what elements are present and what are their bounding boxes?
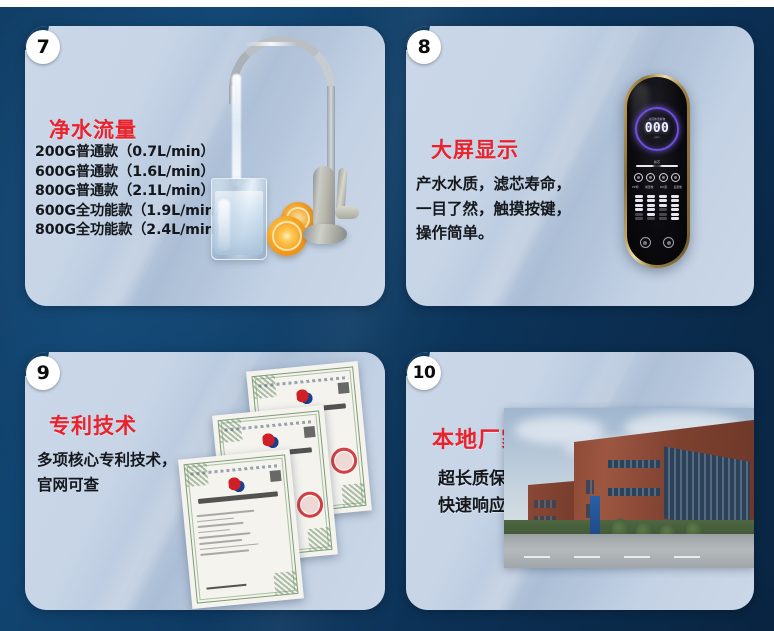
panel-badge-10: 10 [407,356,441,390]
cards-grid: 净水流量 200G普通款（0.7L/min） 600G普通款（1.6L/min）… [0,0,774,631]
promo-feature-grid: 净水流量 200G普通款（0.7L/min） 600G普通款（1.6L/min）… [0,0,774,631]
feature-card-7[interactable]: 净水流量 200G普通款（0.7L/min） 600G普通款（1.6L/min）… [25,26,385,306]
power-button[interactable] [640,237,651,248]
filter-label-row: PP棉 前置炭 RO膜 后置炭 [632,185,682,189]
feature-card-9[interactable]: 专利技术 多项核心专利技术， 官网可查 [25,352,385,610]
panel-title-7: 净水流量 [49,114,137,144]
panel-badge-8: 8 [407,30,441,64]
filter-life-column [647,195,655,220]
panel-badge-9: 9 [26,356,60,390]
tds-value: 000 [645,122,669,136]
tds-unit-label: ppm [654,136,659,140]
filter-section-label: 滤芯 [627,160,687,164]
filter-life-bars [635,195,679,220]
filter-icon[interactable] [671,173,680,182]
filter-label: RO膜 [660,185,667,189]
touch-button-row [627,237,687,248]
description-line: 产水水质，滤芯寿命， [416,172,631,197]
panel-title-9: 专利技术 [49,410,137,440]
filter-icon[interactable] [646,173,655,182]
faucet-photo [185,28,385,298]
display-panel-photo: 总固体溶解物 000 ppm 滤芯 [602,74,722,274]
patent-certificates-photo [175,358,385,608]
factory-building-photo [504,408,754,568]
panel-badge-7: 7 [26,30,60,64]
description-line: 操作简单。 [416,221,631,246]
filter-label: 前置炭 [645,185,653,189]
filter-icon-row [634,173,680,182]
patent-certificate [178,449,304,609]
panel-title-8: 大屏显示 [431,134,519,164]
display-bezel: 总固体溶解物 000 ppm 滤芯 [624,74,690,268]
filter-life-column [671,195,679,220]
filter-label: 后置炭 [674,185,682,189]
screen-divider [636,165,678,167]
feature-card-10[interactable]: 本地厂家 超长质保 快速响应 [406,352,754,610]
description-line: 一目了然，触摸按键， [416,197,631,222]
flush-button[interactable] [663,237,674,248]
filter-life-column [659,195,667,220]
filter-life-column [635,195,643,220]
filter-icon[interactable] [659,173,668,182]
display-screen: 总固体溶解物 000 ppm 滤芯 [627,77,687,265]
filter-icon[interactable] [634,173,643,182]
filter-label: PP棉 [632,185,639,189]
feature-card-8[interactable]: 总固体溶解物 000 ppm 滤芯 [406,26,754,306]
display-description: 产水水质，滤芯寿命， 一目了然，触摸按键， 操作简单。 [416,172,631,246]
tds-readout: 总固体溶解物 000 ppm [635,107,679,151]
